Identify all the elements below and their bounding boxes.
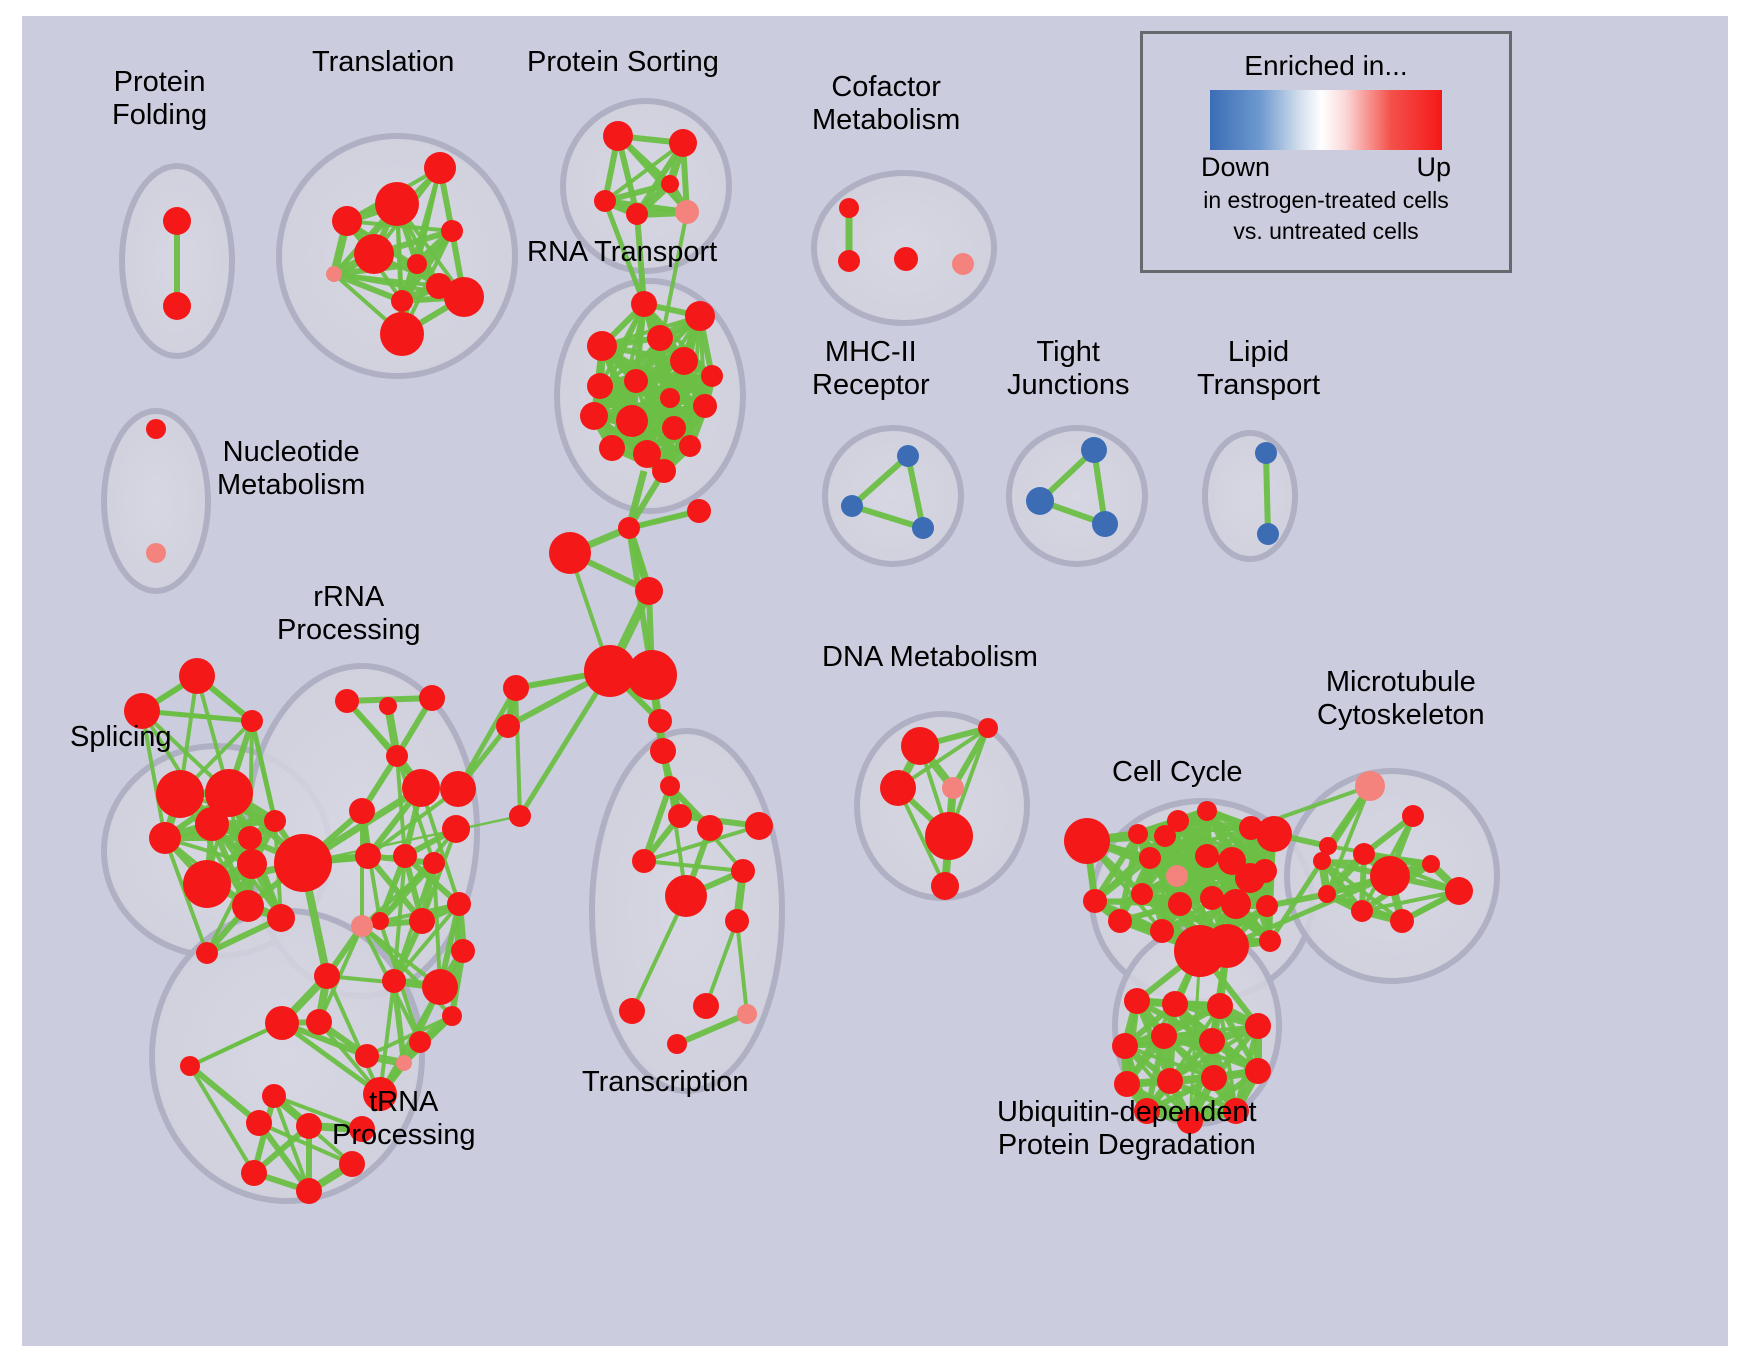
network-node-trna-processing[interactable] bbox=[349, 1116, 375, 1142]
network-node-rrna-processing[interactable] bbox=[355, 843, 381, 869]
network-node-rrna-processing[interactable] bbox=[393, 844, 417, 868]
network-node-cell-cycle[interactable] bbox=[1195, 844, 1219, 868]
network-node-transcription[interactable] bbox=[687, 499, 711, 523]
network-node-ubiquitin-protein-degradation[interactable] bbox=[1114, 1071, 1140, 1097]
network-node-transcription[interactable] bbox=[618, 517, 640, 539]
network-node-microtubule-cytoskeleton[interactable] bbox=[1355, 771, 1385, 801]
network-node-rna-transport[interactable] bbox=[587, 373, 613, 399]
network-node-rna-transport[interactable] bbox=[624, 369, 648, 393]
network-node-cofactor-metabolism[interactable] bbox=[894, 247, 918, 271]
network-node-cell-cycle[interactable] bbox=[1154, 825, 1176, 847]
network-node-cell-cycle[interactable] bbox=[1131, 883, 1153, 905]
legend-color-gradient-bar bbox=[1210, 90, 1442, 150]
network-node-splicing[interactable] bbox=[183, 860, 231, 908]
network-node-mhc-ii-receptor[interactable] bbox=[912, 517, 934, 539]
network-node-cell-cycle[interactable] bbox=[1205, 924, 1249, 968]
network-node-ubiquitin-protein-degradation[interactable] bbox=[1207, 993, 1233, 1019]
network-node-rna-transport[interactable] bbox=[616, 405, 648, 437]
network-node-rrna-processing[interactable] bbox=[451, 939, 475, 963]
network-node-transcription[interactable] bbox=[667, 1034, 687, 1054]
network-node-rna-transport[interactable] bbox=[647, 325, 673, 351]
network-node-ubiquitin-protein-degradation[interactable] bbox=[1162, 991, 1188, 1017]
network-node-cell-cycle[interactable] bbox=[1256, 816, 1292, 852]
network-node-rrna-processing[interactable] bbox=[396, 1055, 412, 1071]
network-node-transcription[interactable] bbox=[660, 776, 680, 796]
network-node-translation[interactable] bbox=[391, 290, 413, 312]
network-node-rrna-processing[interactable] bbox=[402, 769, 440, 807]
network-node-ubiquitin-protein-degradation[interactable] bbox=[1201, 1065, 1227, 1091]
network-node-transcription[interactable] bbox=[496, 714, 520, 738]
network-node-splicing[interactable] bbox=[232, 890, 264, 922]
network-node-translation[interactable] bbox=[424, 152, 456, 184]
network-node-microtubule-cytoskeleton[interactable] bbox=[1351, 900, 1373, 922]
network-node-translation[interactable] bbox=[380, 312, 424, 356]
network-node-tight-junctions[interactable] bbox=[1092, 511, 1118, 537]
network-node-cell-cycle[interactable] bbox=[1064, 818, 1110, 864]
network-node-cell-cycle[interactable] bbox=[1108, 909, 1132, 933]
network-node-cell-cycle[interactable] bbox=[1256, 895, 1278, 917]
network-node-rrna-processing[interactable] bbox=[274, 834, 332, 892]
network-node-ubiquitin-protein-degradation[interactable] bbox=[1245, 1013, 1271, 1039]
network-node-transcription[interactable] bbox=[509, 805, 531, 827]
network-node-microtubule-cytoskeleton[interactable] bbox=[1445, 877, 1473, 905]
network-node-trna-processing[interactable] bbox=[262, 1084, 286, 1108]
network-node-protein-sorting[interactable] bbox=[675, 200, 699, 224]
network-node-rrna-processing[interactable] bbox=[306, 1009, 332, 1035]
network-node-protein-sorting[interactable] bbox=[626, 203, 648, 225]
network-node-transcription[interactable] bbox=[697, 815, 723, 841]
network-node-microtubule-cytoskeleton[interactable] bbox=[1422, 855, 1440, 873]
network-node-transcription[interactable] bbox=[668, 804, 692, 828]
network-node-microtubule-cytoskeleton[interactable] bbox=[1390, 909, 1414, 933]
network-node-rrna-processing[interactable] bbox=[386, 745, 408, 767]
network-node-ubiquitin-protein-degradation[interactable] bbox=[1151, 1023, 1177, 1049]
network-node-nucleotide-metabolism[interactable] bbox=[146, 419, 166, 439]
network-node-rrna-processing[interactable] bbox=[314, 963, 340, 989]
network-node-splicing[interactable] bbox=[264, 810, 286, 832]
network-node-cell-cycle[interactable] bbox=[1235, 863, 1265, 893]
network-node-splicing[interactable] bbox=[156, 770, 204, 818]
network-node-cell-cycle[interactable] bbox=[1150, 919, 1174, 943]
legend-down-label: Down bbox=[1201, 152, 1270, 183]
network-node-rrna-processing[interactable] bbox=[351, 915, 373, 937]
network-node-protein-folding[interactable] bbox=[163, 292, 191, 320]
network-node-rrna-processing[interactable] bbox=[355, 1044, 379, 1068]
network-node-dna-metabolism[interactable] bbox=[931, 872, 959, 900]
legend-caption-line1: in estrogen-treated cells bbox=[1143, 187, 1509, 214]
network-node-translation[interactable] bbox=[375, 182, 419, 226]
network-node-splicing[interactable] bbox=[238, 826, 262, 850]
network-node-trna-processing[interactable] bbox=[296, 1178, 322, 1204]
network-node-transcription[interactable] bbox=[737, 1004, 757, 1024]
network-node-transcription[interactable] bbox=[503, 675, 529, 701]
network-node-nucleotide-metabolism[interactable] bbox=[146, 543, 166, 563]
network-node-rna-transport[interactable] bbox=[631, 291, 657, 317]
network-node-cell-cycle[interactable] bbox=[1083, 889, 1107, 913]
network-node-transcription[interactable] bbox=[648, 709, 672, 733]
network-node-ubiquitin-protein-degradation[interactable] bbox=[1199, 1028, 1225, 1054]
network-node-rna-transport[interactable] bbox=[701, 365, 723, 387]
network-node-splicing[interactable] bbox=[196, 942, 218, 964]
network-node-translation[interactable] bbox=[441, 220, 463, 242]
network-node-rrna-processing[interactable] bbox=[371, 912, 389, 930]
legend-title: Enriched in... bbox=[1143, 50, 1509, 82]
network-node-mhc-ii-receptor[interactable] bbox=[897, 445, 919, 467]
network-node-cofactor-metabolism[interactable] bbox=[839, 198, 859, 218]
network-node-translation[interactable] bbox=[332, 206, 362, 236]
network-node-transcription[interactable] bbox=[745, 812, 773, 840]
network-node-trna-processing[interactable] bbox=[296, 1113, 322, 1139]
cluster-hull-lipid-transport bbox=[1205, 433, 1295, 559]
cluster-hull-mhc-ii-receptor bbox=[825, 428, 961, 564]
figure-root: Protein FoldingTranslationProtein Sortin… bbox=[0, 0, 1750, 1360]
network-node-rna-transport[interactable] bbox=[652, 459, 676, 483]
network-node-splicing[interactable] bbox=[179, 658, 215, 694]
network-node-trna-processing[interactable] bbox=[180, 1056, 200, 1076]
network-node-cell-cycle[interactable] bbox=[1128, 824, 1148, 844]
network-node-cell-cycle[interactable] bbox=[1259, 930, 1281, 952]
network-node-trna-processing[interactable] bbox=[265, 1006, 299, 1040]
network-node-rna-transport[interactable] bbox=[693, 394, 717, 418]
network-canvas: Protein FoldingTranslationProtein Sortin… bbox=[22, 16, 1728, 1346]
network-node-splicing[interactable] bbox=[124, 693, 160, 729]
network-node-transcription[interactable] bbox=[725, 909, 749, 933]
legend-box: Enriched in... Down Up in estrogen-treat… bbox=[1140, 31, 1512, 273]
network-node-ubiquitin-protein-degradation[interactable] bbox=[1134, 1098, 1160, 1124]
network-node-lipid-transport[interactable] bbox=[1255, 442, 1277, 464]
network-node-cell-cycle[interactable] bbox=[1139, 847, 1161, 869]
network-node-rrna-processing[interactable] bbox=[409, 1031, 431, 1053]
network-node-rna-transport[interactable] bbox=[587, 331, 617, 361]
network-node-microtubule-cytoskeleton[interactable] bbox=[1370, 856, 1410, 896]
network-node-microtubule-cytoskeleton[interactable] bbox=[1402, 805, 1424, 827]
network-node-transcription[interactable] bbox=[693, 993, 719, 1019]
network-node-cofactor-metabolism[interactable] bbox=[838, 250, 860, 272]
network-node-ubiquitin-protein-degradation[interactable] bbox=[1112, 1033, 1138, 1059]
network-node-rrna-processing[interactable] bbox=[335, 689, 359, 713]
network-node-mhc-ii-receptor[interactable] bbox=[841, 495, 863, 517]
network-node-transcription[interactable] bbox=[635, 577, 663, 605]
network-node-microtubule-cytoskeleton[interactable] bbox=[1313, 852, 1331, 870]
network-node-rna-transport[interactable] bbox=[670, 347, 698, 375]
network-node-tight-junctions[interactable] bbox=[1081, 437, 1107, 463]
network-node-translation[interactable] bbox=[444, 277, 484, 317]
network-node-rrna-processing[interactable] bbox=[382, 969, 406, 993]
network-node-trna-processing[interactable] bbox=[339, 1151, 365, 1177]
network-node-rrna-processing[interactable] bbox=[419, 685, 445, 711]
network-node-transcription[interactable] bbox=[632, 849, 656, 873]
network-node-dna-metabolism[interactable] bbox=[901, 727, 939, 765]
network-node-rrna-processing[interactable] bbox=[349, 798, 375, 824]
network-node-protein-sorting[interactable] bbox=[669, 129, 697, 157]
network-node-trna-processing[interactable] bbox=[246, 1110, 272, 1136]
network-node-dna-metabolism[interactable] bbox=[942, 777, 964, 799]
network-node-rrna-processing[interactable] bbox=[442, 815, 470, 843]
network-node-splicing[interactable] bbox=[237, 849, 267, 879]
network-node-cell-cycle[interactable] bbox=[1200, 886, 1224, 910]
network-node-splicing[interactable] bbox=[241, 710, 263, 732]
network-node-ubiquitin-protein-degradation[interactable] bbox=[1157, 1068, 1183, 1094]
network-node-dna-metabolism[interactable] bbox=[880, 770, 916, 806]
network-node-splicing[interactable] bbox=[149, 822, 181, 854]
network-node-rrna-processing[interactable] bbox=[447, 892, 471, 916]
network-node-cell-cycle[interactable] bbox=[1197, 801, 1217, 821]
network-node-translation[interactable] bbox=[407, 254, 427, 274]
network-node-splicing[interactable] bbox=[267, 904, 295, 932]
network-node-lipid-transport[interactable] bbox=[1257, 523, 1279, 545]
network-node-ubiquitin-protein-degradation[interactable] bbox=[1124, 988, 1150, 1014]
network-node-cell-cycle[interactable] bbox=[1221, 889, 1251, 919]
network-node-rrna-processing[interactable] bbox=[409, 908, 435, 934]
network-node-rrna-processing[interactable] bbox=[423, 852, 445, 874]
network-node-transcription[interactable] bbox=[619, 998, 645, 1024]
network-node-splicing[interactable] bbox=[195, 807, 229, 841]
network-node-translation[interactable] bbox=[326, 266, 342, 282]
network-node-rrna-processing[interactable] bbox=[442, 1006, 462, 1026]
network-node-cofactor-metabolism[interactable] bbox=[952, 253, 974, 275]
network-node-rrna-processing[interactable] bbox=[440, 771, 476, 807]
network-node-transcription[interactable] bbox=[665, 875, 707, 917]
network-node-rna-transport[interactable] bbox=[580, 402, 608, 430]
network-node-rrna-processing[interactable] bbox=[363, 1077, 397, 1111]
network-node-rna-transport[interactable] bbox=[662, 416, 686, 440]
network-node-dna-metabolism[interactable] bbox=[978, 718, 998, 738]
network-edge bbox=[1266, 453, 1268, 534]
network-node-microtubule-cytoskeleton[interactable] bbox=[1353, 843, 1375, 865]
network-node-tight-junctions[interactable] bbox=[1026, 487, 1054, 515]
network-node-ubiquitin-protein-degradation[interactable] bbox=[1177, 1108, 1203, 1134]
network-node-transcription[interactable] bbox=[627, 650, 677, 700]
network-node-ubiquitin-protein-degradation[interactable] bbox=[1223, 1098, 1249, 1124]
legend-caption-line2: vs. untreated cells bbox=[1143, 218, 1509, 245]
network-node-protein-folding[interactable] bbox=[163, 207, 191, 235]
network-node-rna-transport[interactable] bbox=[660, 388, 680, 408]
network-node-ubiquitin-protein-degradation[interactable] bbox=[1245, 1058, 1271, 1084]
network-node-protein-sorting[interactable] bbox=[594, 190, 616, 212]
network-edge bbox=[516, 688, 520, 816]
network-node-cell-cycle[interactable] bbox=[1168, 892, 1192, 916]
cluster-hull-protein-sorting bbox=[563, 101, 729, 271]
network-node-rrna-processing[interactable] bbox=[422, 969, 458, 1005]
legend-up-label: Up bbox=[1416, 152, 1451, 183]
network-node-transcription[interactable] bbox=[650, 738, 676, 764]
network-node-rna-transport[interactable] bbox=[599, 435, 625, 461]
network-node-transcription[interactable] bbox=[549, 532, 591, 574]
network-node-transcription[interactable] bbox=[731, 859, 755, 883]
network-node-trna-processing[interactable] bbox=[241, 1160, 267, 1186]
network-node-microtubule-cytoskeleton[interactable] bbox=[1318, 885, 1336, 903]
network-node-rrna-processing[interactable] bbox=[379, 697, 397, 715]
network-node-rna-transport[interactable] bbox=[679, 435, 701, 457]
network-node-translation[interactable] bbox=[354, 234, 394, 274]
network-node-dna-metabolism[interactable] bbox=[925, 812, 973, 860]
network-node-protein-sorting[interactable] bbox=[661, 175, 679, 193]
network-node-rna-transport[interactable] bbox=[685, 301, 715, 331]
network-node-cell-cycle[interactable] bbox=[1166, 865, 1188, 887]
network-node-protein-sorting[interactable] bbox=[603, 121, 633, 151]
